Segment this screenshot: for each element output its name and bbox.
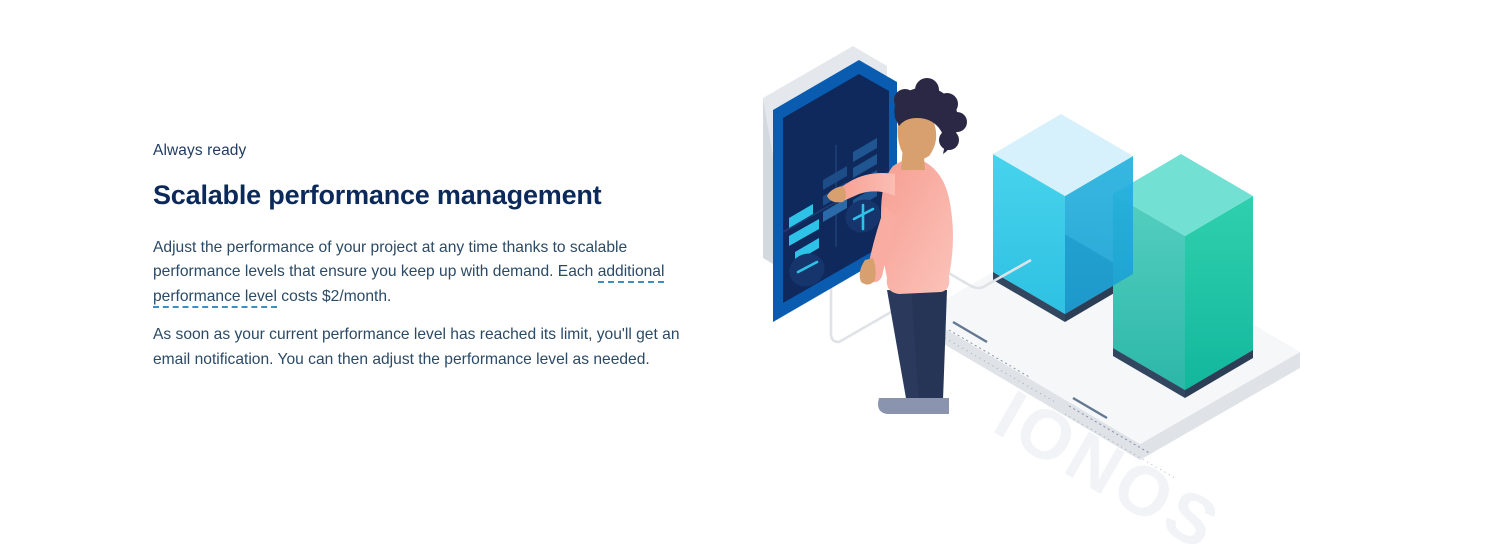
illustration-svg: IONOS — [735, 0, 1355, 544]
paragraph-1-text-before-link: Adjust the performance of your project a… — [153, 239, 627, 280]
person-shoe-front — [911, 398, 949, 414]
page-title: Scalable performance management — [153, 178, 713, 212]
feature-text-column: Always ready Scalable performance manage… — [153, 140, 713, 372]
person-hair-curl-2 — [915, 78, 939, 102]
person-hair-bun — [939, 130, 959, 150]
person-hair-curl-4 — [947, 112, 967, 132]
scalable-performance-illustration: IONOS — [735, 0, 1355, 544]
description-paragraph-1: Adjust the performance of your project a… — [153, 236, 701, 309]
description-paragraph-2: As soon as your current performance leve… — [153, 323, 701, 372]
eyebrow-label: Always ready — [153, 140, 713, 162]
person-hair-curl-3 — [936, 93, 958, 115]
paragraph-1-text-after-link: costs $2/month. — [277, 288, 391, 305]
performance-bar-small — [993, 114, 1133, 314]
person-hair-curl-1 — [894, 89, 916, 111]
performance-bar-large — [1113, 154, 1253, 390]
